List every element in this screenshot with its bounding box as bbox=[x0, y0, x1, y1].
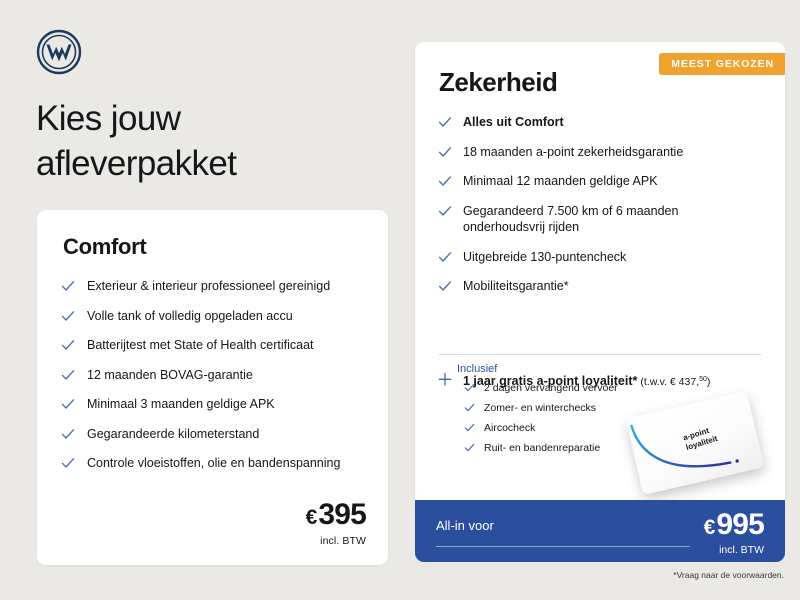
check-icon bbox=[438, 205, 452, 218]
check-icon bbox=[61, 339, 75, 352]
check-icon bbox=[61, 428, 75, 441]
allin-label: All-in voor bbox=[436, 518, 494, 533]
list-item-label: 12 maanden BOVAG-garantie bbox=[87, 368, 253, 382]
currency-symbol: € bbox=[306, 506, 318, 529]
allin-underline bbox=[436, 546, 690, 547]
list-item-label: Volle tank of volledig opgeladen accu bbox=[87, 309, 293, 323]
promo-page: Kies jouw afleverpakket Comfort Exterieu… bbox=[0, 0, 800, 600]
comfort-title: Comfort bbox=[63, 234, 146, 260]
check-icon bbox=[464, 403, 475, 413]
page-title: Kies jouw afleverpakket bbox=[36, 96, 376, 186]
price-value: 395 bbox=[318, 498, 366, 531]
list-item-label: Batterijtest met State of Health certifi… bbox=[87, 338, 314, 352]
list-item: Exterieur & interieur professioneel gere… bbox=[61, 278, 371, 295]
list-item-label: Minimaal 12 maanden geldige APK bbox=[463, 174, 658, 188]
allin-price: €995 bbox=[704, 509, 764, 544]
list-item-label: Ruit- en bandenreparatie bbox=[484, 442, 600, 454]
comfort-package-card[interactable]: Comfort Exterieur & interieur profession… bbox=[37, 210, 388, 565]
list-item-label: 18 maanden a-point zekerheidsgarantie bbox=[463, 145, 683, 159]
allin-price-block: €995 incl. BTW bbox=[704, 509, 764, 556]
check-icon bbox=[438, 251, 452, 264]
check-icon bbox=[464, 383, 475, 393]
list-item-label: Zomer- en winterchecks bbox=[484, 402, 596, 414]
page-title-line2: afleverpakket bbox=[36, 141, 376, 186]
inclusief-label: Inclusief bbox=[457, 363, 497, 375]
list-item: Minimaal 12 maanden geldige APK bbox=[438, 173, 763, 190]
list-item-label: Exterieur & interieur professioneel gere… bbox=[87, 279, 330, 293]
list-item: Volle tank of volledig opgeladen accu bbox=[61, 308, 371, 325]
list-item: Batterijtest met State of Health certifi… bbox=[61, 337, 371, 354]
currency-symbol: € bbox=[704, 516, 716, 539]
comfort-price-block: €395 incl. BTW bbox=[306, 499, 366, 547]
list-item-label: Minimaal 3 maanden geldige APK bbox=[87, 397, 275, 411]
comfort-feature-list: Exterieur & interieur professioneel gere… bbox=[61, 278, 371, 485]
check-icon bbox=[438, 116, 452, 129]
list-item-label: Controle vloeistoffen, olie en bandenspa… bbox=[87, 456, 340, 470]
list-item: Gegarandeerde kilometerstand bbox=[61, 426, 371, 443]
price-value: 995 bbox=[716, 508, 764, 541]
section-divider bbox=[439, 354, 761, 355]
status-badge: MEEST GEKOZEN bbox=[659, 53, 785, 75]
vw-logo-icon bbox=[36, 29, 82, 75]
left-column: Kies jouw afleverpakket Comfort Exterieu… bbox=[0, 0, 400, 600]
footnote: *Vraag naar de voorwaarden. bbox=[673, 570, 784, 580]
list-item: Minimaal 3 maanden geldige APK bbox=[61, 396, 371, 413]
list-item: 18 maanden a-point zekerheidsgarantie bbox=[438, 144, 763, 161]
comfort-price: €395 bbox=[306, 499, 366, 534]
list-item: Gegarandeerd 7.500 km of 6 maanden onder… bbox=[438, 203, 763, 236]
check-icon bbox=[61, 369, 75, 382]
check-icon bbox=[61, 310, 75, 323]
allin-price-bar[interactable]: All-in voor €995 incl. BTW bbox=[415, 500, 785, 562]
page-title-line1: Kies jouw bbox=[36, 96, 376, 141]
list-item-label: 2 dagen vervangend vervoer bbox=[484, 382, 618, 394]
check-icon bbox=[438, 280, 452, 293]
check-icon bbox=[464, 443, 475, 453]
list-item-label: Uitgebreide 130-puntencheck bbox=[463, 250, 626, 264]
list-item: Alles uit Comfort bbox=[438, 114, 763, 131]
zekerheid-feature-list: Alles uit Comfort 18 maanden a-point zek… bbox=[438, 114, 763, 308]
plus-icon bbox=[438, 372, 452, 387]
comfort-price-note: incl. BTW bbox=[306, 535, 366, 547]
list-item-label: Gegarandeerde kilometerstand bbox=[87, 427, 259, 441]
list-item-label: Aircocheck bbox=[484, 422, 535, 434]
check-icon bbox=[61, 398, 75, 411]
list-item: Uitgebreide 130-puntencheck bbox=[438, 249, 763, 266]
check-icon bbox=[464, 423, 475, 433]
check-icon bbox=[61, 457, 75, 470]
list-item: 12 maanden BOVAG-garantie bbox=[61, 367, 371, 384]
list-item-label: Mobiliteitsgarantie* bbox=[463, 279, 569, 293]
zekerheid-title: Zekerheid bbox=[439, 67, 557, 98]
list-item: Controle vloeistoffen, olie en bandenspa… bbox=[61, 455, 371, 472]
list-item: Mobiliteitsgarantie* bbox=[438, 278, 763, 295]
list-item-label: Gegarandeerd 7.500 km of 6 maanden onder… bbox=[463, 204, 678, 235]
check-icon bbox=[438, 175, 452, 188]
allin-price-note: incl. BTW bbox=[704, 544, 764, 556]
check-icon bbox=[438, 146, 452, 159]
list-item-label: Alles uit Comfort bbox=[463, 115, 564, 129]
list-item: 2 dagen vervangend vervoer bbox=[464, 382, 704, 395]
check-icon bbox=[61, 280, 75, 293]
